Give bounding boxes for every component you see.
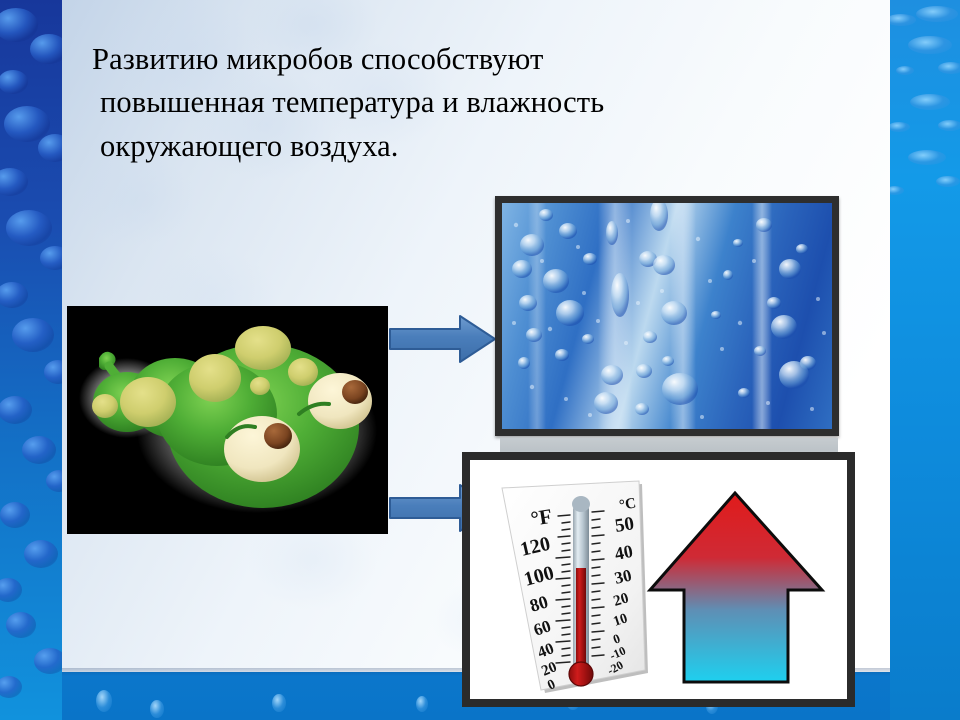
- title-line-1: Развитию микробов способствуют: [92, 38, 682, 81]
- thermometer-image-card: °F °C 120 100 80 60 40 20 0 50 40 30 20 …: [462, 452, 855, 707]
- title-line-3: окружающего воздуха.: [100, 125, 682, 168]
- arrow-to-water: [388, 313, 498, 365]
- thermometer-celsius-unit-label: °C: [618, 496, 637, 514]
- title-line-2: повышенная температура и влажность: [100, 81, 682, 124]
- water-droplets-photo: [502, 203, 832, 429]
- microbe-image-card: [67, 306, 388, 534]
- microbe-illustration: [67, 306, 388, 534]
- heat-up-arrow-icon: [650, 493, 822, 682]
- page-title: Развитию микробов способствуют повышенна…: [92, 38, 682, 168]
- slide-frame-left: [0, 0, 62, 720]
- thermometer-c-tick: 40: [613, 541, 634, 564]
- thermometer-fahrenheit-unit-label: °F: [529, 504, 554, 531]
- slide-frame-right: [890, 0, 960, 720]
- slide-root: Развитию микробов способствуют повышенна…: [0, 0, 960, 720]
- water-droplets-image-card: [495, 196, 839, 436]
- right-arrow-icon: [388, 313, 498, 365]
- water-droplets-illustration: [502, 203, 832, 429]
- thermometer-illustration: °F °C 120 100 80 60 40 20 0 50 40 30 20 …: [470, 460, 847, 699]
- thermometer-c-tick: 50: [613, 513, 635, 537]
